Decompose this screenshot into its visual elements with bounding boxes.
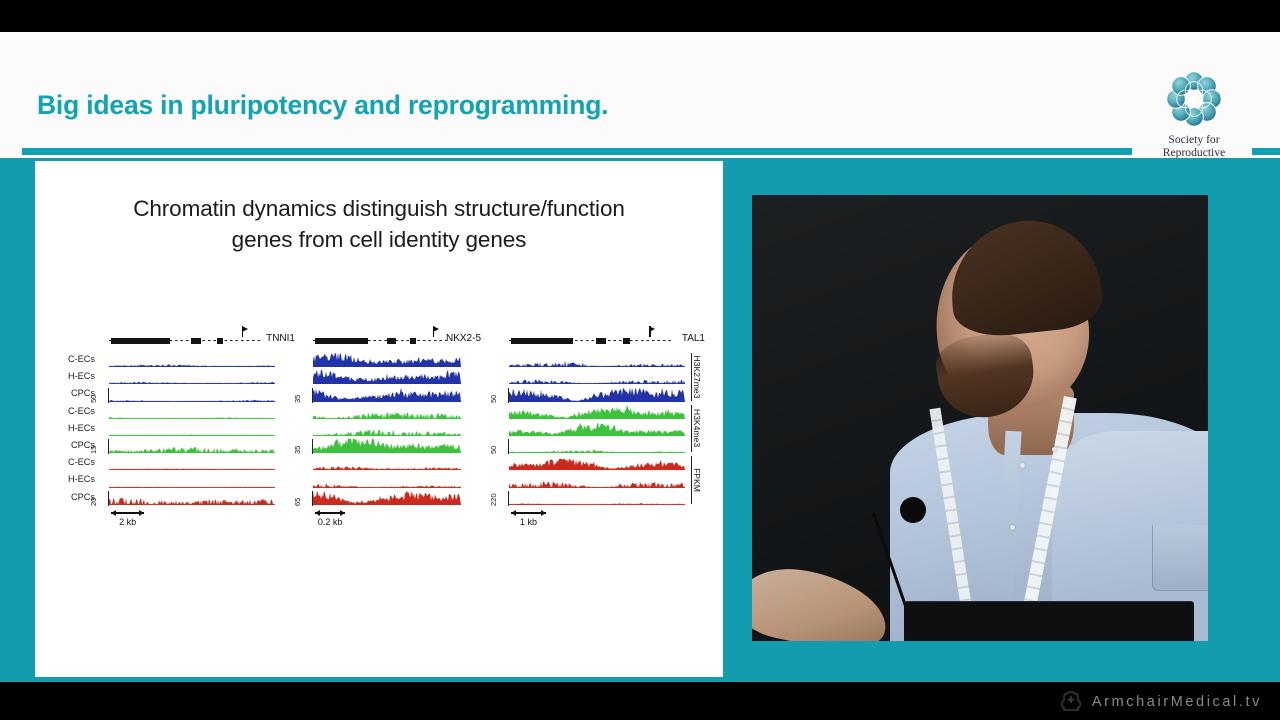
- signal-trace: [509, 387, 685, 402]
- track-axis-tick: [108, 388, 109, 403]
- track-row-label: H-ECs: [47, 368, 95, 385]
- track-row-label: C-ECs: [47, 351, 95, 368]
- signal-trace: [109, 421, 275, 436]
- scale-bar: 2 kb: [111, 510, 144, 527]
- track-row-labels: C-ECsH-ECsCPCsC-ECsH-ECsCPCsC-ECsH-ECsCP…: [47, 351, 95, 506]
- footer-brand[interactable]: ArmchairMedical.tv: [1059, 690, 1262, 714]
- signal-track: [99, 454, 295, 471]
- gene-exon: [217, 338, 224, 344]
- signal-track: [499, 368, 705, 385]
- track-axis-max: 20: [89, 497, 98, 505]
- signal-track: [99, 403, 295, 420]
- signal-trace: [109, 438, 275, 453]
- signal-track: 35: [303, 437, 481, 454]
- signal-trace: [509, 473, 685, 488]
- scale-bar-label: 1 kb: [511, 517, 546, 527]
- genome-panel-tnni1: TNNI15015202 kb: [99, 331, 295, 506]
- footer-brand-label: ArmchairMedical.tv: [1092, 694, 1262, 710]
- society-flower-logo-icon: [1163, 68, 1225, 130]
- signal-trace: [313, 352, 461, 367]
- signal-trace: [109, 455, 275, 470]
- signal-track: 15: [99, 437, 295, 454]
- track-axis-max: 50: [489, 446, 498, 454]
- signal-track: [99, 368, 295, 385]
- signal-trace: [313, 404, 461, 419]
- signal-track: 35: [303, 385, 481, 402]
- signal-trace: [509, 352, 685, 367]
- track-row-label: H-ECs: [47, 420, 95, 437]
- signal-track: [303, 351, 481, 368]
- genome-panel-nkx2-5: NKX2-53535650.2 kb: [303, 331, 481, 506]
- signal-track: [499, 403, 705, 420]
- scale-bar-line: [511, 510, 546, 516]
- collar-stud: [1052, 447, 1057, 452]
- speaker-video[interactable]: [752, 195, 1208, 641]
- signal-trace: [109, 473, 275, 488]
- gene-tss-arrow: [649, 326, 658, 337]
- track-row-label: CPCs: [47, 437, 95, 454]
- slide-title-line2: genes from cell identity genes: [35, 224, 723, 255]
- track-axis-max: 35: [293, 446, 302, 454]
- signal-track: [499, 420, 705, 437]
- gene-body-block: [511, 338, 573, 345]
- genome-browser-figure: C-ECsH-ECsCPCsC-ECsH-ECsCPCsC-ECsH-ECsCP…: [41, 331, 717, 546]
- signal-trace: [313, 438, 461, 453]
- slide-panel[interactable]: Chromatin dynamics distinguish structure…: [35, 161, 723, 677]
- signal-trace: [509, 404, 685, 419]
- page-title: Big ideas in pluripotency and reprogramm…: [37, 90, 608, 121]
- track-axis-tick: [508, 439, 509, 454]
- track-row-label: CPCs: [47, 385, 95, 402]
- signal-trace: [509, 369, 685, 384]
- gene-exon: [596, 338, 606, 344]
- track-axis-max: 50: [489, 394, 498, 402]
- top-black-bar: [0, 0, 1280, 32]
- track-row-label: H-ECs: [47, 471, 95, 488]
- scale-bar: 1 kb: [511, 510, 546, 527]
- gene-model: TAL1: [499, 331, 705, 351]
- gene-exon: [191, 338, 201, 344]
- gene-name-label: TNNI1: [266, 333, 295, 344]
- signal-track: 50: [499, 437, 705, 454]
- track-axis-tick: [508, 388, 509, 403]
- signal-trace: [509, 438, 685, 453]
- shirt-button-2: [1010, 525, 1015, 530]
- signal-track: 50: [499, 385, 705, 402]
- track-axis-max: 65: [293, 497, 302, 505]
- signal-track: [303, 368, 481, 385]
- mark-group: H3K27me3: [689, 351, 715, 403]
- armchair-medical-cross-icon: [1059, 691, 1083, 713]
- shirt-button-1: [1020, 463, 1025, 468]
- track-axis-max: 35: [293, 394, 302, 402]
- signal-track: [303, 471, 481, 488]
- gene-body-block: [111, 338, 170, 345]
- signal-trace: [313, 421, 461, 436]
- signal-track: 220: [499, 489, 705, 506]
- track-axis-tick: [312, 388, 313, 403]
- track-axis-tick: [108, 491, 109, 506]
- signal-trace: [109, 369, 275, 384]
- signal-trace: [509, 455, 685, 470]
- signal-trace: [109, 352, 275, 367]
- signal-track: 20: [99, 489, 295, 506]
- signal-track: 50: [99, 385, 295, 402]
- mark-group: FPKM: [689, 454, 715, 506]
- signal-track: [499, 471, 705, 488]
- signal-trace: [509, 421, 685, 436]
- signal-track: 65: [303, 489, 481, 506]
- mark-group-label: H3K27me3: [692, 355, 702, 398]
- track-row-label: C-ECs: [47, 454, 95, 471]
- track-axis-tick: [312, 491, 313, 506]
- genome-panel-tal1: TAL150502201 kb: [499, 331, 705, 506]
- track-row-label: CPCs: [47, 489, 95, 506]
- signal-trace: [313, 455, 461, 470]
- gene-exon: [387, 338, 396, 344]
- scale-bar-line: [315, 510, 345, 516]
- slide-title: Chromatin dynamics distinguish structure…: [35, 193, 723, 255]
- signal-trace: [109, 490, 275, 505]
- microphone-head-icon: [900, 497, 926, 523]
- signal-track: [499, 454, 705, 471]
- gene-tss-arrow: [242, 326, 251, 337]
- gene-name-label: NKX2-5: [446, 333, 481, 344]
- page-root: Big ideas in pluripotency and reprogramm…: [0, 0, 1280, 720]
- mark-group-label: FPKM: [692, 468, 702, 492]
- mark-group-labels: H3K27me3H3K4me3FPKM: [689, 351, 715, 506]
- header-band: Big ideas in pluripotency and reprogramm…: [0, 32, 1280, 158]
- scale-bar-label: 0.2 kb: [315, 517, 345, 527]
- gene-exon: [623, 338, 630, 344]
- mark-group-label: H3K4me3: [692, 409, 702, 447]
- signal-trace: [509, 490, 685, 505]
- slide-title-line1: Chromatin dynamics distinguish structure…: [35, 193, 723, 224]
- gene-exon: [410, 338, 416, 344]
- track-row-label: C-ECs: [47, 403, 95, 420]
- scale-bar-label: 2 kb: [111, 517, 144, 527]
- scale-bar-line: [111, 510, 144, 516]
- track-axis-tick: [312, 439, 313, 454]
- title-divider-stub: [1252, 148, 1280, 155]
- signal-trace: [313, 369, 461, 384]
- track-axis-tick: [508, 491, 509, 506]
- signal-trace: [109, 404, 275, 419]
- signal-track: [499, 351, 705, 368]
- track-axis-tick: [108, 439, 109, 454]
- laptop: [904, 601, 1194, 641]
- gene-model: TNNI1: [99, 331, 295, 351]
- title-divider-rule: [22, 148, 1132, 155]
- mark-group: H3K4me3: [689, 403, 715, 455]
- signal-trace: [313, 490, 461, 505]
- signal-track: [303, 420, 481, 437]
- signal-trace: [109, 387, 275, 402]
- signal-track: [303, 403, 481, 420]
- signal-trace: [313, 473, 461, 488]
- signal-trace: [313, 387, 461, 402]
- scale-bar: 0.2 kb: [315, 510, 345, 527]
- shirt-pocket: [1152, 525, 1208, 591]
- gene-name-label: TAL1: [682, 333, 705, 344]
- gene-tss-arrow: [433, 326, 442, 337]
- signal-track: [99, 471, 295, 488]
- signal-track: [99, 351, 295, 368]
- signal-track: [99, 420, 295, 437]
- logo-text-line1: Society for: [1140, 133, 1248, 146]
- track-axis-max: 15: [89, 446, 98, 454]
- track-axis-max: 220: [489, 493, 498, 506]
- gene-model: NKX2-5: [303, 331, 481, 351]
- track-axis-max: 50: [89, 394, 98, 402]
- gene-body-block: [315, 338, 368, 345]
- signal-track: [303, 454, 481, 471]
